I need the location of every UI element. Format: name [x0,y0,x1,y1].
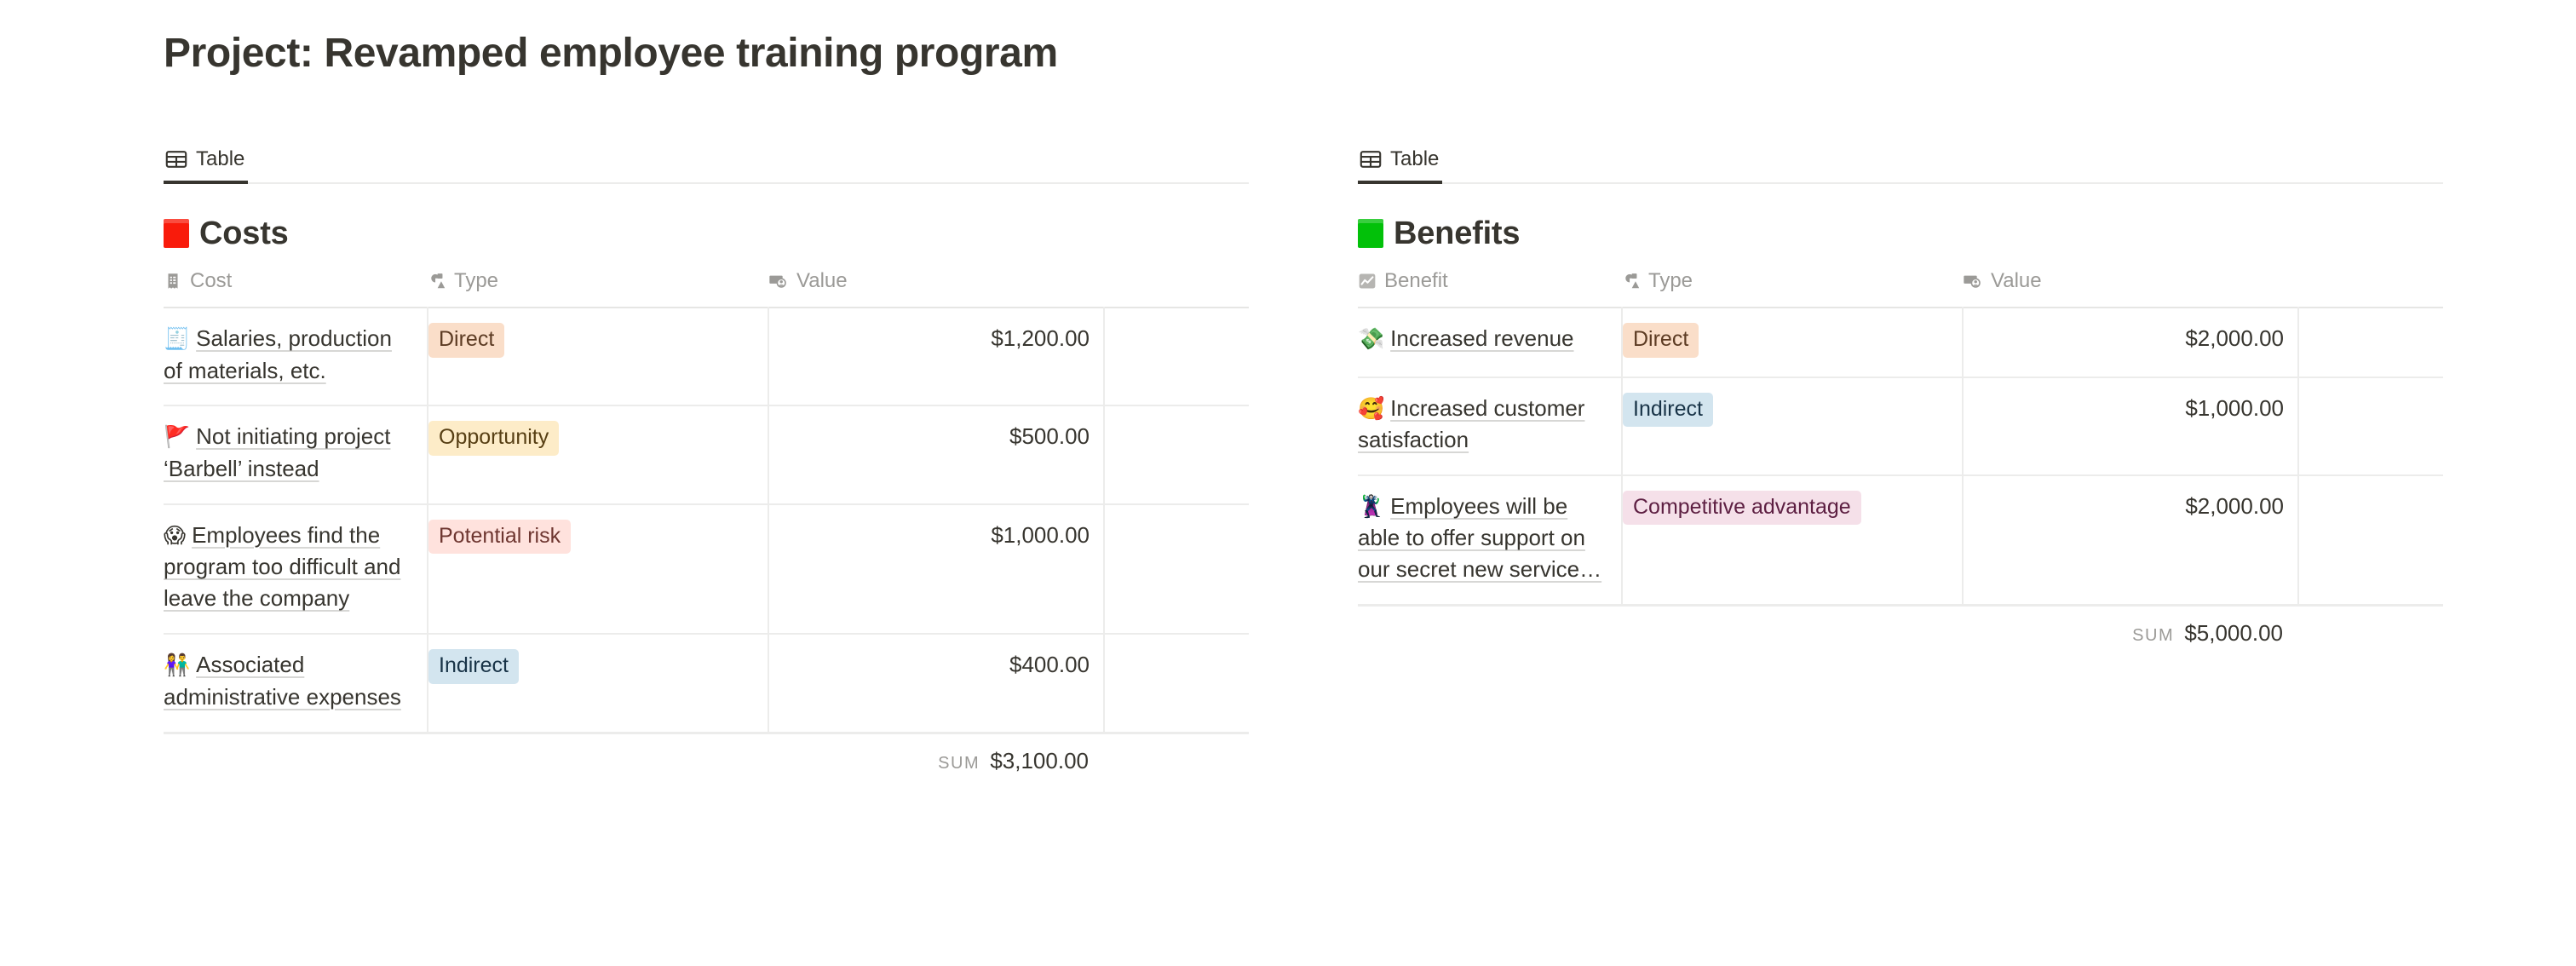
currency-icon [1963,272,1983,290]
table-row[interactable]: 🚩Not initiating project ‘Barbell’ instea… [164,405,1249,503]
sum-cell[interactable]: SUM $3,100.00 [768,734,1104,774]
sum-label: SUM [2132,626,2174,646]
database-title-text: Costs [199,216,289,252]
cell-blank[interactable] [1104,308,1249,405]
benefits-sum-row: SUM $5,000.00 [1358,604,2443,647]
cell-benefit-name[interactable]: 💸Increased revenue [1358,308,1622,377]
column-costs: Table Costs [164,136,1249,774]
column-header-cost[interactable]: Cost [164,269,428,308]
cell-benefit-type[interactable]: Direct [1622,308,1963,377]
table-row[interactable]: 🦹Employees will be able to offer support… [1358,475,2443,604]
table-row[interactable]: 💸Increased revenue Direct $2,000.00 [1358,308,2443,377]
cell-cost-name[interactable]: 👫Associated administrative expenses [164,634,428,731]
column-header-label: Value [1991,269,2042,293]
cell-blank[interactable] [1104,405,1249,503]
cell-cost-type[interactable]: Potential risk [428,504,768,634]
table-row[interactable]: 😱Employees find the program too difficul… [164,504,1249,634]
column-header-value[interactable]: Value [1963,269,2443,308]
cell-blank[interactable] [2298,308,2443,377]
cell-benefit-type[interactable]: Indirect [1622,377,1963,475]
cell-benefit-value[interactable]: $1,000.00 [1963,377,2298,475]
column-header-label: Benefit [1384,269,1448,293]
money-with-wings-emoji: 💸 [1358,325,1384,355]
supervillain-emoji: 🦹 [1358,492,1384,523]
cell-benefit-value[interactable]: $2,000.00 [1963,308,2298,377]
cell-cost-name[interactable]: 🧾Salaries, production of materials, etc. [164,308,428,405]
select-shapes-icon [428,272,446,290]
cell-cost-type[interactable]: Indirect [428,634,768,731]
cell-cost-value[interactable]: $1,000.00 [768,504,1104,634]
line-chart-icon [1358,272,1377,290]
type-tag: Competitive advantage [1623,491,1861,526]
cell-benefit-name[interactable]: 🥰Increased customer satisfaction [1358,377,1622,475]
page-title: Project: Revamped employee training prog… [164,29,1058,78]
screaming-face-emoji: 😱 [164,521,186,552]
sum-value: $5,000.00 [2184,620,2283,647]
sum-label: SUM [938,754,980,773]
row-title: Employees find the program too difficult… [164,522,400,611]
cell-cost-type[interactable]: Direct [428,308,768,405]
column-header-type[interactable]: Type [428,269,768,308]
type-tag: Potential risk [428,520,571,555]
cell-cost-name[interactable]: 🚩Not initiating project ‘Barbell’ instea… [164,405,428,503]
column-header-label: Cost [190,269,232,293]
type-tag: Direct [1623,323,1699,358]
cell-benefit-value[interactable]: $2,000.00 [1963,475,2298,604]
view-tab-bar-benefits: Table [1358,136,2443,184]
green-square-icon [1358,219,1383,248]
currency-icon [768,272,789,290]
tab-label: Table [196,149,244,170]
notion-page: Project: Revamped employee training prog… [0,0,2576,966]
cell-cost-value[interactable]: $500.00 [768,405,1104,503]
crossed-out-cloud-emoji: 🚩 [164,423,190,453]
row-title: Salaries, production of materials, etc. [164,325,392,383]
sum-cell[interactable]: SUM $5,000.00 [1963,607,2298,647]
column-header-value[interactable]: Value [768,269,1249,308]
type-tag: Direct [428,323,504,358]
row-title: Employees will be able to offer support … [1358,493,1601,582]
two-column-board: Table Costs [164,136,2412,774]
people-emoji: 👫 [164,651,190,681]
costs-sum-row: SUM $3,100.00 [164,732,1249,774]
column-header-benefit[interactable]: Benefit [1358,269,1622,308]
table-row[interactable]: 🥰Increased customer satisfaction Indirec… [1358,377,2443,475]
type-tag: Opportunity [428,421,559,456]
type-tag: Indirect [428,649,519,684]
table-header-row: Benefit [1358,269,2443,308]
cell-benefit-name[interactable]: 🦹Employees will be able to offer support… [1358,475,1622,604]
database-title-text: Benefits [1394,216,1520,252]
column-header-type[interactable]: Type [1622,269,1963,308]
select-shapes-icon [1622,272,1641,290]
cell-benefit-type[interactable]: Competitive advantage [1622,475,1963,604]
receipt-emoji: 🧾 [164,325,190,355]
database-title-benefits: Benefits [1358,213,2443,254]
row-title: Not initiating project ‘Barbell’ instead [164,423,390,481]
view-tab-bar-costs: Table [164,136,1249,184]
tab-table-costs[interactable]: Table [164,138,248,184]
benefits-table: Benefit [1358,269,2443,604]
column-benefits: Table Benefits [1358,136,2443,647]
database-title-costs: Costs [164,213,1249,254]
cell-blank[interactable] [1104,634,1249,731]
tab-label: Table [1390,149,1439,170]
table-row[interactable]: 🧾Salaries, production of materials, etc.… [164,308,1249,405]
cell-cost-name[interactable]: 😱Employees find the program too difficul… [164,504,428,634]
row-title: Increased customer satisfaction [1358,395,1584,453]
row-title: Associated administrative expenses [164,652,401,710]
table-icon [165,148,187,170]
smiling-face-with-hearts-emoji: 🥰 [1358,394,1384,425]
table-icon [1360,148,1382,170]
tab-table-benefits[interactable]: Table [1358,138,1442,184]
column-header-label: Type [1648,269,1693,293]
table-header-row: Cost [164,269,1249,308]
cell-blank[interactable] [1104,504,1249,634]
receipt-icon [164,272,182,290]
column-header-label: Type [454,269,498,293]
cell-blank[interactable] [2298,475,2443,604]
sum-value: $3,100.00 [990,748,1089,774]
column-header-label: Value [796,269,848,293]
cell-cost-value[interactable]: $400.00 [768,634,1104,731]
cell-cost-value[interactable]: $1,200.00 [768,308,1104,405]
row-title: Increased revenue [1390,325,1573,351]
costs-table: Cost [164,269,1249,732]
cell-blank[interactable] [2298,377,2443,475]
cell-cost-type[interactable]: Opportunity [428,405,768,503]
red-square-icon [164,219,189,248]
table-row[interactable]: 👫Associated administrative expenses Indi… [164,634,1249,731]
type-tag: Indirect [1623,393,1713,428]
